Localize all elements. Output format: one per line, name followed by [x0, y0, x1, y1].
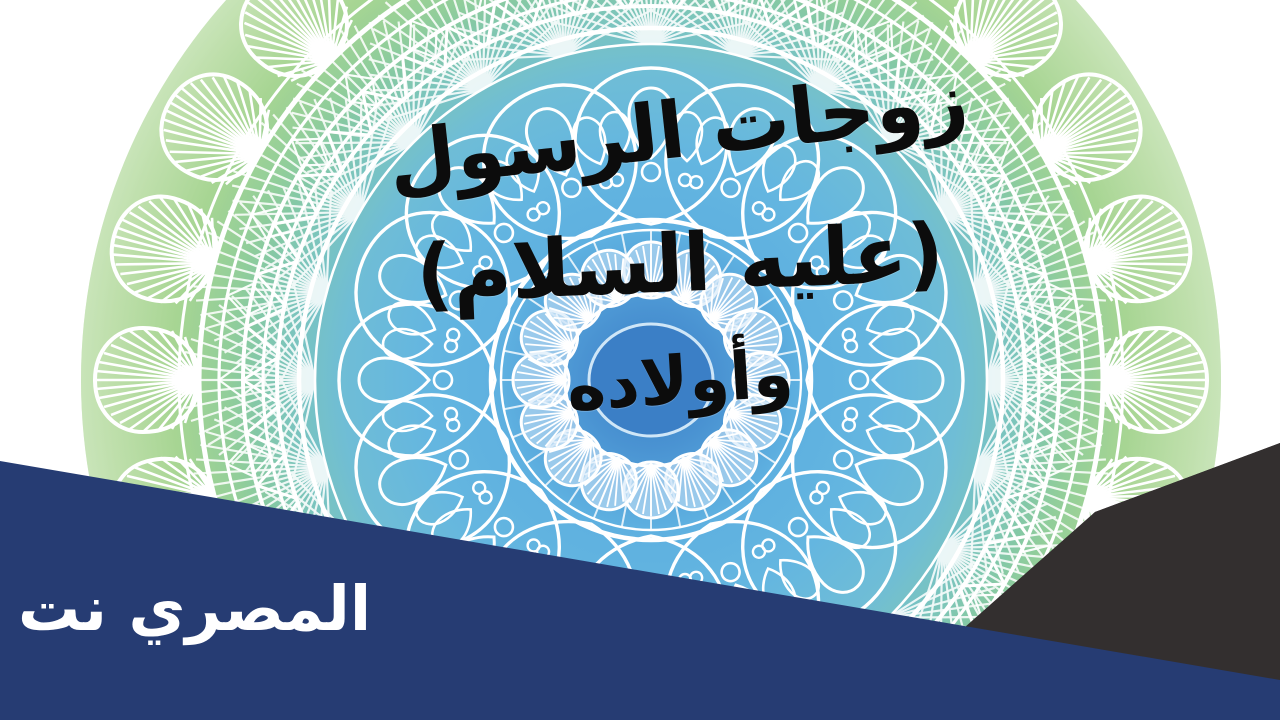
site-watermark: المصري نت — [18, 578, 371, 640]
title-card: زوجات الرسول (عليه السلام) وأولاده المصر… — [0, 0, 1280, 720]
